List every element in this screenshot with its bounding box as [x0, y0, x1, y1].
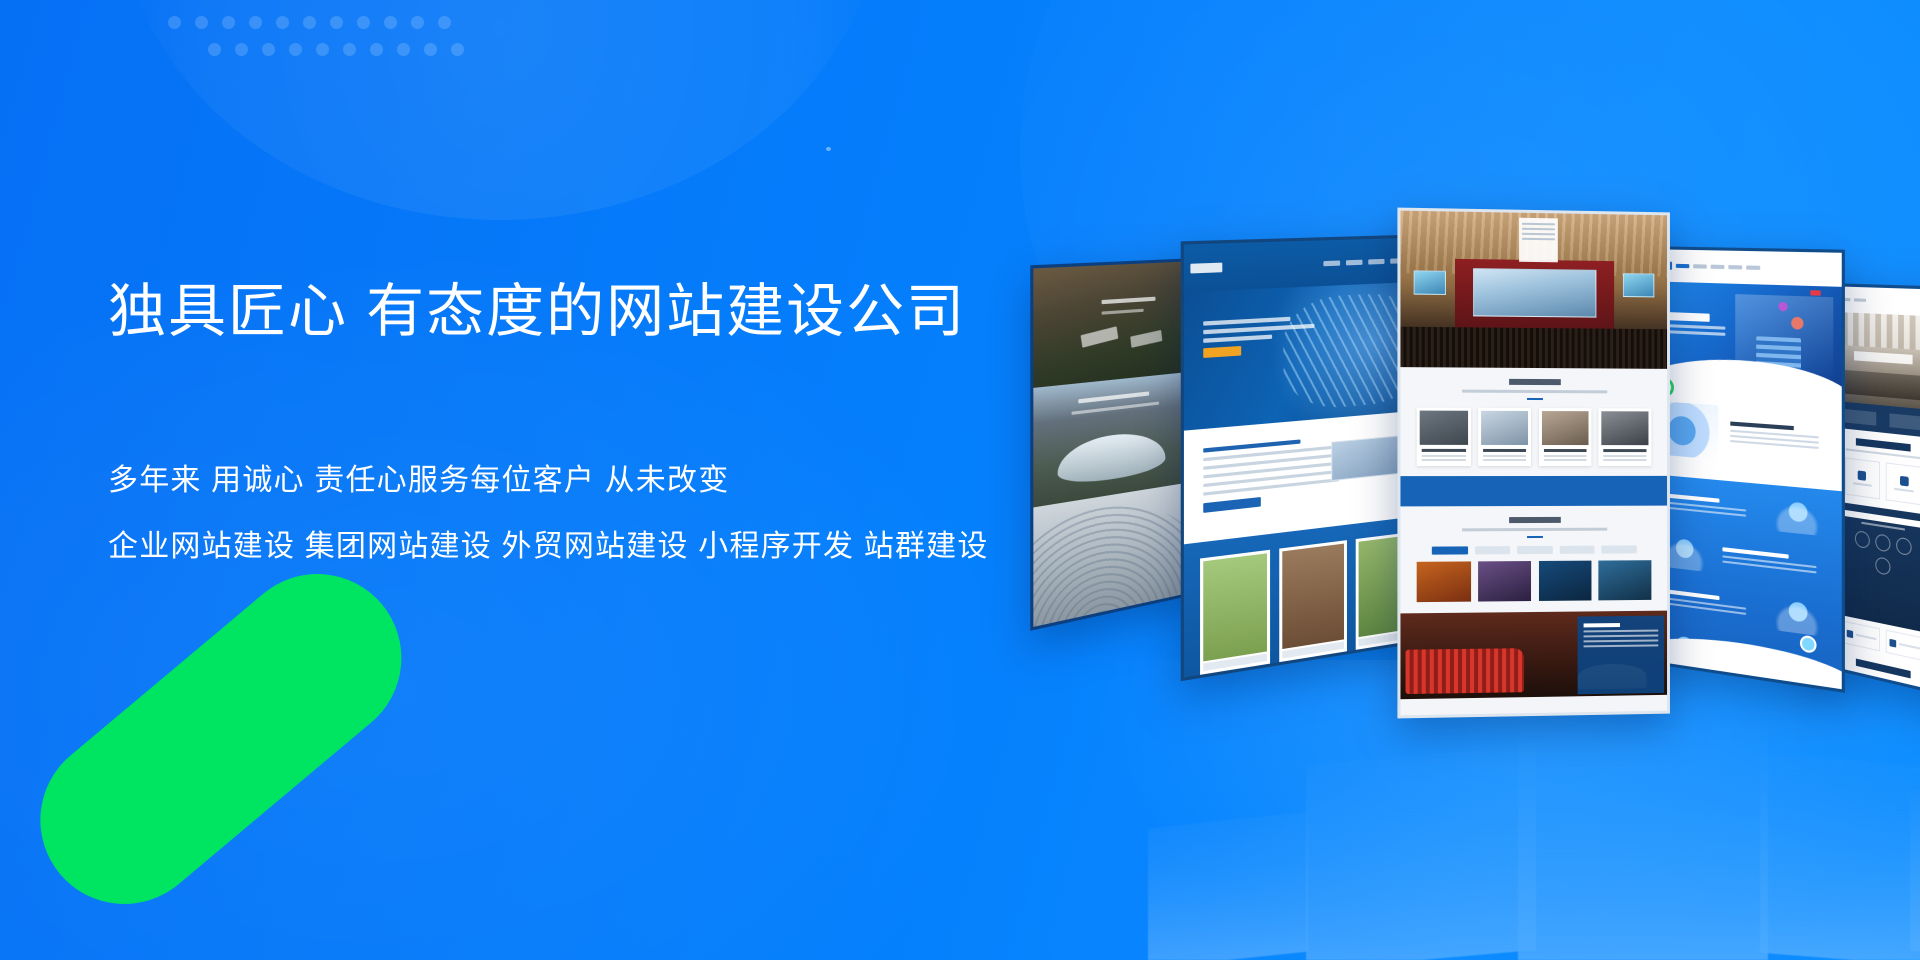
circle-icon — [1855, 530, 1870, 549]
hero-sign — [1854, 351, 1913, 364]
section-subtext — [1462, 389, 1607, 393]
dot — [262, 43, 275, 56]
quick-link — [1844, 409, 1877, 426]
feature-text — [1722, 547, 1827, 578]
hero-banner: 独具匠心 有态度的网站建设公司 多年来 用诚心 责任心服务每位客户 从未改变 企… — [0, 0, 1920, 960]
card-line — [1604, 455, 1647, 457]
advantage-card — [1478, 407, 1532, 465]
feature-row — [1656, 580, 1827, 637]
feature-illustration — [1767, 594, 1827, 637]
dot — [370, 43, 383, 56]
light-speck — [246, 772, 250, 775]
nav-link — [1746, 266, 1760, 270]
dot — [343, 43, 356, 56]
blue-divider-band — [1400, 476, 1667, 507]
text-line — [1203, 478, 1339, 496]
product-tabs — [1417, 545, 1652, 554]
profile-line — [1584, 630, 1659, 633]
side-display-left — [1414, 270, 1446, 294]
service-card — [1843, 621, 1880, 652]
section-subtext — [1462, 528, 1607, 532]
advantage-cards — [1417, 407, 1652, 465]
section-heading — [1509, 517, 1561, 523]
company-advantage-section — [1400, 367, 1667, 476]
theater-feature-section — [1400, 610, 1667, 699]
red-seating — [1406, 648, 1524, 694]
nav-link-active — [1676, 264, 1689, 268]
nav-link — [1368, 258, 1384, 264]
product-tab — [1560, 546, 1595, 554]
dot — [195, 16, 208, 29]
feature-row — [1656, 532, 1827, 587]
mockup-aerial-terrain-site[interactable] — [1030, 258, 1198, 631]
profile-heading — [1584, 623, 1620, 627]
hero-line — [1203, 335, 1272, 343]
mockup-hero-dna — [1184, 281, 1433, 431]
icon-label — [1853, 482, 1872, 487]
mockup-page — [1400, 211, 1667, 716]
service-icon — [1847, 630, 1853, 639]
dot-row — [208, 43, 464, 56]
card-title — [1604, 449, 1647, 452]
dot — [316, 43, 329, 56]
product-thumb — [1417, 562, 1471, 603]
nav-card-line — [1522, 227, 1555, 230]
background-sheen-top — [120, 0, 880, 220]
nav-link — [1693, 264, 1707, 268]
product-tab-active — [1432, 547, 1468, 555]
nav-link — [1346, 259, 1362, 265]
product-tab — [1517, 546, 1552, 554]
nav-link — [1728, 265, 1742, 269]
hero-line — [1203, 317, 1290, 326]
dot — [249, 16, 262, 29]
mockup-page — [1033, 261, 1195, 627]
projection-screen — [1473, 268, 1596, 318]
profile-line — [1584, 644, 1659, 647]
product-tab — [1475, 546, 1510, 554]
section-rule — [1527, 536, 1543, 538]
nav-link — [1854, 299, 1866, 303]
side-display-right — [1623, 273, 1654, 297]
hero-nav-card — [1519, 217, 1558, 262]
dot-row — [168, 16, 451, 29]
card-image — [1602, 411, 1649, 445]
advantage-card — [1599, 408, 1652, 466]
hero-subline-2: 企业网站建设 集团网站建设 外贸网站建设 小程序开发 站群建设 — [108, 532, 968, 562]
section-heading — [1509, 379, 1561, 385]
product-thumbnails — [1417, 560, 1652, 602]
card-line — [1422, 455, 1466, 457]
dot — [330, 16, 343, 29]
gallery-card — [1200, 550, 1271, 675]
design-icon-card — [1845, 457, 1880, 499]
dot — [397, 43, 410, 56]
education-hero — [1643, 281, 1842, 393]
dot — [357, 16, 370, 29]
mockup-auditorium-theater-site[interactable] — [1397, 208, 1670, 719]
section-rule — [1527, 398, 1543, 400]
light-speck — [826, 147, 831, 151]
company-profile-box — [1578, 616, 1665, 694]
dot — [424, 43, 437, 56]
card-line — [1422, 459, 1466, 461]
circle-icon — [1875, 557, 1890, 576]
website-mockup-cluster — [1120, 220, 1920, 780]
service-label — [1856, 634, 1877, 641]
quick-link — [1889, 413, 1920, 430]
card-image — [1481, 411, 1529, 445]
dot — [168, 16, 181, 29]
caption-line — [1101, 297, 1155, 305]
card-line — [1483, 459, 1527, 461]
reflection-panel — [1760, 753, 1920, 960]
auditorium-seating — [1400, 326, 1667, 368]
dot — [276, 16, 289, 29]
dot — [451, 43, 464, 56]
dot — [222, 16, 235, 29]
card-line — [1604, 459, 1647, 461]
nav-link — [1711, 265, 1725, 269]
nav-card-line — [1522, 232, 1555, 235]
gallery-image — [1203, 553, 1267, 661]
hero-copy: 独具匠心 有态度的网站建设公司 多年来 用诚心 责任心服务每位客户 从未改变 企… — [108, 278, 968, 562]
reason-icon-circles — [1845, 529, 1920, 582]
dot — [384, 16, 397, 29]
reflection-panel — [1148, 812, 1308, 960]
caption-line — [1101, 309, 1143, 315]
building-plate — [1081, 326, 1119, 347]
service-label — [1899, 643, 1920, 650]
card-line — [1483, 455, 1527, 457]
card-title — [1543, 449, 1586, 452]
green-capsule-decoration — [6, 540, 436, 939]
reflection-panel — [1910, 791, 1920, 960]
circle-icon — [1875, 534, 1890, 553]
profile-line — [1584, 634, 1659, 637]
profile-line — [1584, 639, 1659, 642]
radial-pattern — [1033, 492, 1195, 626]
card-title — [1483, 449, 1527, 452]
service-icon — [1889, 639, 1896, 648]
flag-marker-icon — [1810, 290, 1820, 296]
icon-label — [1895, 487, 1914, 492]
caption-line — [1071, 402, 1159, 415]
intro-heading — [1731, 422, 1794, 431]
dot — [438, 16, 451, 29]
card-title — [1422, 449, 1466, 452]
mockup-page — [1643, 249, 1842, 689]
nav-card-line — [1522, 237, 1555, 240]
feature-text — [1656, 492, 1756, 520]
product-thumb — [1599, 560, 1652, 600]
hero-cta-button — [1203, 346, 1241, 358]
hero-line — [1203, 324, 1314, 335]
feature-illustration — [1767, 494, 1827, 536]
card-line — [1543, 459, 1586, 461]
project-photo — [1914, 686, 1920, 701]
intro-text — [1731, 422, 1827, 453]
design-icon-card — [1886, 462, 1920, 505]
read-more-button — [1203, 496, 1262, 512]
hero-sublines: 多年来 用诚心 责任心服务每位客户 从未改变 企业网站建设 集团网站建设 外贸网… — [108, 466, 968, 562]
features-blue-section — [1643, 473, 1842, 689]
terrain-radial-band — [1033, 481, 1195, 627]
mockup-education-english-site[interactable] — [1640, 246, 1845, 693]
service-card — [1885, 630, 1920, 662]
dot-grid-decoration — [168, 16, 468, 64]
service-icon — [1858, 470, 1866, 480]
building-plate — [1130, 330, 1162, 348]
gallery-image — [1283, 544, 1344, 649]
product-intro-section — [1400, 506, 1667, 613]
advantage-card — [1417, 407, 1471, 465]
card-image — [1420, 410, 1468, 444]
nav-card-line — [1522, 222, 1555, 225]
dot — [208, 43, 221, 56]
caption-line — [1078, 392, 1149, 404]
stadium-dome — [1058, 428, 1165, 487]
dot — [235, 43, 248, 56]
advantage-card — [1539, 408, 1592, 466]
dot — [289, 43, 302, 56]
product-thumb — [1478, 561, 1532, 602]
hero-subline-1: 多年来 用诚心 责任心服务每位客户 从未改变 — [108, 466, 968, 496]
mockup-gallery-section — [1184, 514, 1433, 677]
page-title: 独具匠心 有态度的网站建设公司 — [108, 278, 968, 346]
card-line — [1543, 455, 1586, 457]
product-tab — [1602, 546, 1637, 554]
circle-icon — [1896, 537, 1911, 557]
card-image — [1542, 411, 1589, 445]
feature-text — [1656, 588, 1756, 619]
service-icon — [1900, 475, 1909, 486]
gallery-card — [1280, 540, 1347, 662]
auditorium-hero-image — [1400, 211, 1667, 369]
intro-row — [1643, 381, 1842, 490]
mockup-page — [1184, 237, 1433, 677]
dot — [411, 16, 424, 29]
terrain-aerial-band — [1033, 261, 1195, 388]
mockup-logo — [1190, 262, 1222, 273]
nav-link — [1323, 260, 1340, 266]
feature-row — [1656, 484, 1827, 536]
product-thumb — [1539, 561, 1592, 601]
dot — [303, 16, 316, 29]
